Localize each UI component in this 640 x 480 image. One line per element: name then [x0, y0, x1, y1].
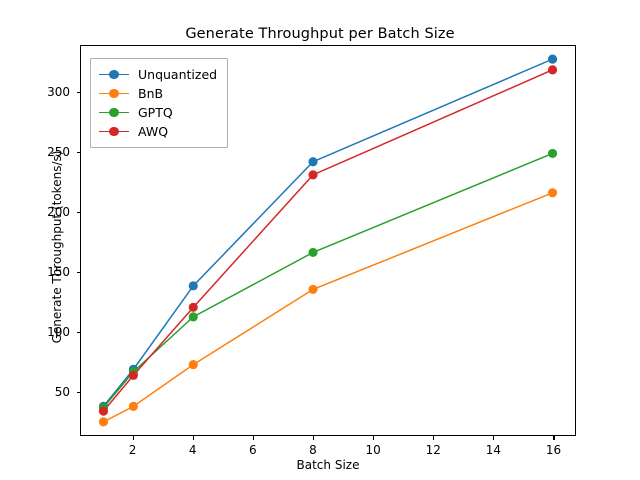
y-tick-mark-150: [77, 272, 81, 273]
data-point-bnb-2: [129, 402, 138, 411]
x-tick-mark-8: [313, 436, 314, 440]
x-tick-mark-6: [253, 436, 254, 440]
x-tick-mark-2: [133, 436, 134, 440]
data-point-awq-16: [548, 65, 557, 74]
x-tick-mark-14: [493, 436, 494, 440]
x-tick-mark-4: [193, 436, 194, 440]
legend-item-gptq[interactable]: GPTQ: [99, 103, 217, 122]
x-tick-mark-16: [553, 436, 554, 440]
x-tick-label-8: 8: [298, 443, 328, 457]
y-tick-label-200: 200: [30, 205, 70, 219]
x-tick-label-4: 4: [178, 443, 208, 457]
chart-figure: Generate Throughput per Batch Size Batch…: [0, 0, 640, 480]
legend-label: GPTQ: [138, 105, 173, 120]
legend-item-awq[interactable]: AWQ: [99, 122, 217, 141]
x-tick-label-16: 16: [538, 443, 568, 457]
legend-label: AWQ: [138, 124, 168, 139]
x-tick-label-12: 12: [418, 443, 448, 457]
data-point-gptq-8: [308, 248, 317, 257]
data-point-gptq-16: [548, 149, 557, 158]
series-line-gptq: [103, 153, 552, 407]
data-point-awq-8: [308, 170, 317, 179]
y-tick-label-150: 150: [30, 265, 70, 279]
x-tick-mark-10: [373, 436, 374, 440]
series-line-bnb: [103, 193, 552, 422]
y-axis-label: Generate Throughput (tokens/s): [50, 82, 64, 412]
legend-item-bnb[interactable]: BnB: [99, 84, 217, 103]
y-tick-mark-200: [77, 212, 81, 213]
x-tick-mark-12: [433, 436, 434, 440]
legend-swatch-bnb-icon: [99, 87, 129, 101]
y-tick-mark-50: [77, 392, 81, 393]
legend-item-unquantized[interactable]: Unquantized: [99, 65, 217, 84]
legend-label: Unquantized: [138, 67, 217, 82]
x-tick-label-10: 10: [358, 443, 388, 457]
data-point-unquantized-16: [548, 55, 557, 64]
data-point-bnb-16: [548, 188, 557, 197]
data-point-awq-1: [99, 407, 108, 416]
data-point-unquantized-4: [189, 281, 198, 290]
y-tick-label-50: 50: [30, 385, 70, 399]
legend-swatch-gptq-icon: [99, 106, 129, 120]
y-tick-label-250: 250: [30, 145, 70, 159]
data-point-awq-4: [189, 303, 198, 312]
x-axis-label: Batch Size: [80, 458, 576, 472]
chart-legend: UnquantizedBnBGPTQAWQ: [90, 58, 228, 148]
legend-swatch-awq-icon: [99, 125, 129, 139]
chart-title: Generate Throughput per Batch Size: [0, 26, 640, 42]
x-tick-label-14: 14: [478, 443, 508, 457]
data-point-bnb-1: [99, 417, 108, 426]
data-point-bnb-8: [308, 285, 317, 294]
legend-swatch-unquantized-icon: [99, 68, 129, 82]
y-tick-label-100: 100: [30, 325, 70, 339]
y-tick-mark-250: [77, 152, 81, 153]
legend-label: BnB: [138, 86, 163, 101]
x-tick-label-6: 6: [238, 443, 268, 457]
data-point-gptq-4: [189, 312, 198, 321]
x-tick-label-2: 2: [118, 443, 148, 457]
y-tick-mark-300: [77, 92, 81, 93]
data-point-unquantized-8: [308, 157, 317, 166]
data-point-awq-2: [129, 371, 138, 380]
y-tick-label-300: 300: [30, 85, 70, 99]
y-tick-mark-100: [77, 332, 81, 333]
data-point-bnb-4: [189, 360, 198, 369]
